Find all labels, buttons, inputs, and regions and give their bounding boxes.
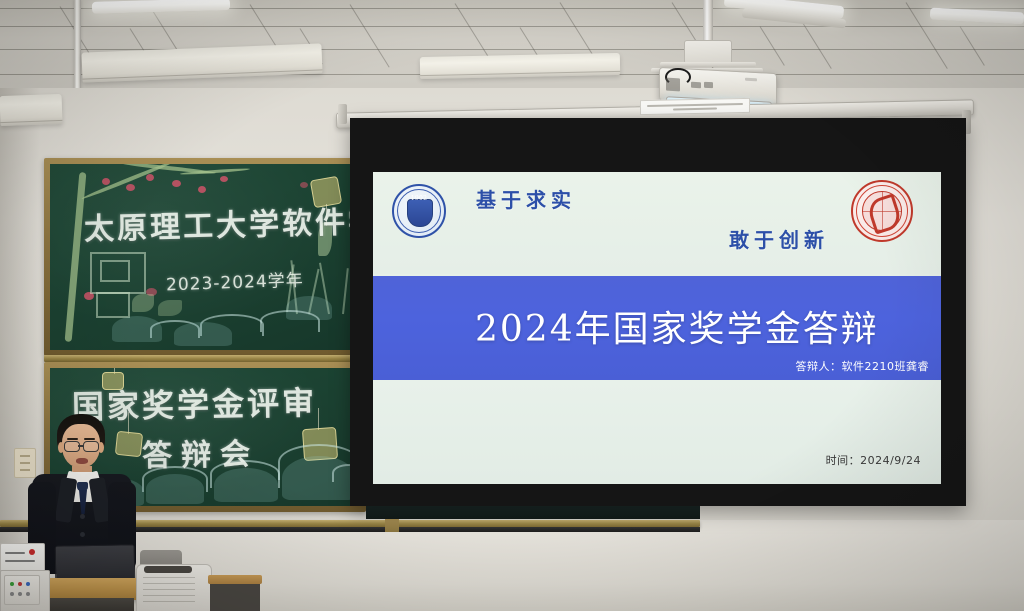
presentation-slide[interactable]: 1902 基于求实 敢于创新 2024年国家奖学金答辩 答辩人：软件2210班龚… <box>373 172 941 484</box>
slide-footer-area <box>373 380 941 484</box>
person-eyeglasses-right <box>83 441 99 452</box>
podium-shelf <box>144 566 192 573</box>
logo-year-text: 1902 <box>394 195 444 202</box>
projector-mount-head <box>684 40 732 64</box>
laptop[interactable] <box>55 544 136 581</box>
podium-body <box>40 598 134 611</box>
screen-roller-bracket-left <box>338 104 347 124</box>
ceiling-lamp-housing-mid <box>420 53 620 79</box>
slide-motto-right: 敢于创新 <box>729 224 829 253</box>
side-bench <box>208 575 262 584</box>
side-bench-base <box>210 584 260 611</box>
desk-control-panel[interactable] <box>4 575 40 605</box>
slide-date: 时间：2024/9/24 <box>826 452 921 468</box>
blackboard-upper-subheading: 2023-2024学年 <box>166 266 304 296</box>
desk-nameplate <box>0 543 45 573</box>
blackboard-edge-shadow <box>366 505 700 519</box>
blackboard-upper-heading: 太原理工大学软件学院 <box>83 196 360 249</box>
blackboard-upper: 太原理工大学软件学院 2023-2024学年 <box>50 164 360 350</box>
screen-roller-label <box>640 98 750 115</box>
slide-title: 2024年国家奖学金答辩 <box>475 300 879 352</box>
taiyuan-university-of-technology-logo: 1902 <box>392 184 446 238</box>
chalk-tray-upper <box>44 355 366 362</box>
person-tie-knot <box>77 482 88 491</box>
slide-presenter: 答辩人：软件2210班龚睿 <box>796 358 930 374</box>
classroom-scene: 太原理工大学软件学院 2023-2024学年 国家奖学金评审 答辩会 <box>0 0 1024 611</box>
college-of-software-logo <box>851 180 913 242</box>
ceiling-lamp-housing-wall <box>0 94 63 126</box>
projector-mount-pole <box>703 0 713 42</box>
slide-motto-left: 基于求实 <box>476 184 576 213</box>
projector-mount-arm <box>660 62 756 67</box>
ceiling <box>0 0 1024 96</box>
person-mouth <box>76 458 88 464</box>
blackboard-lower-line2: 答辩会 <box>142 429 260 475</box>
